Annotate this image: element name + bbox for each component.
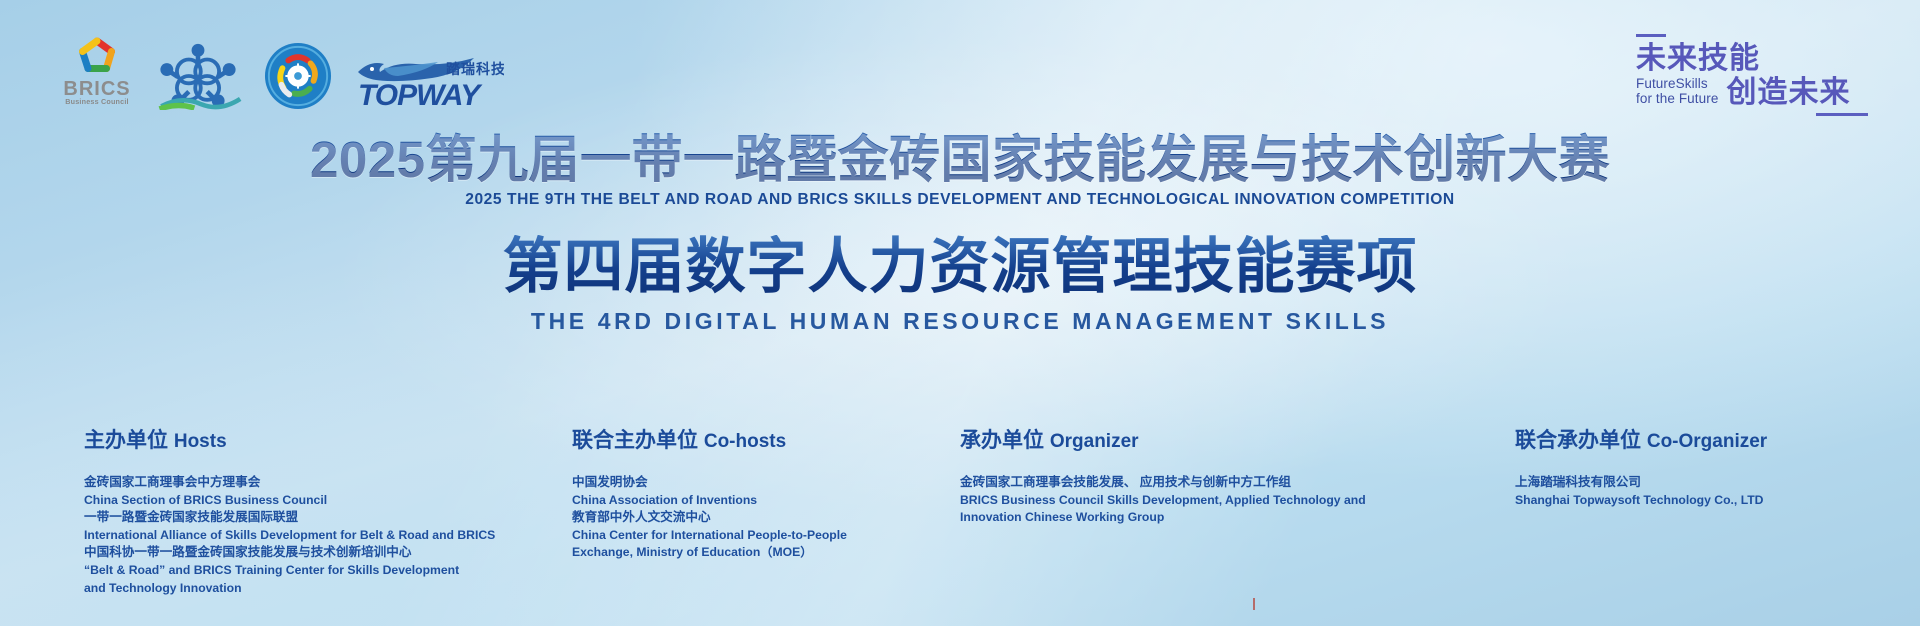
slogan-top-rule [1636,34,1666,37]
org-line: “Belt & Road” and BRICS Training Center … [84,562,554,579]
org-column-coorganizer: 联合承办单位 Co-Organizer 上海踏瑞科技有限公司 Shanghai … [1515,430,1855,509]
org-column-cohosts: 联合主办单位 Co-hosts 中国发明协会 China Association… [572,430,902,562]
svg-text:踏瑞科技: 踏瑞科技 [446,61,504,77]
org-body: 中国发明协会 China Association of Inventions 教… [572,474,902,562]
brics-business-council-logo: BRICS Business Council [62,36,132,110]
organizations-row: 主办单位 Hosts 金砖国家工商理事会中方理事会 China Section … [0,430,1920,610]
org-line: 中国发明协会 [572,474,902,492]
org-heading: 主办单位 Hosts [84,430,554,451]
slogan-en-line1: FutureSkills [1636,76,1718,91]
skills-training-center-logo [264,42,332,110]
org-heading: 承办单位 Organizer [960,430,1390,451]
event-title-en: THE 4RD DIGITAL HUMAN RESOURCE MANAGEMEN… [0,308,1920,335]
org-line: Innovation Chinese Working Group [960,509,1390,526]
slogan-bottom-rule [1816,113,1868,116]
org-line: Shanghai Topwaysoft Technology Co., LTD [1515,492,1855,509]
topway-dragon-icon: TOPWAY 踏瑞科技 [354,50,504,108]
org-body: 金砖国家工商理事会中方理事会 China Section of BRICS Bu… [84,474,554,597]
org-heading-en: Co-Organizer [1647,431,1767,452]
topway-logo: TOPWAY 踏瑞科技 [354,48,504,110]
org-line: Exchange, Ministry of Education（MOE） [572,544,902,561]
org-column-hosts: 主办单位 Hosts 金砖国家工商理事会中方理事会 China Section … [84,430,554,597]
org-line: 金砖国家工商理事会技能发展、 应用技术与创新中方工作组 [960,474,1390,492]
org-line: China Center for International People-to… [572,527,902,544]
svg-text:TOPWAY: TOPWAY [358,79,483,108]
brics-logo-wordmark: BRICS [62,79,132,99]
org-column-organizer: 承办单位 Organizer 金砖国家工商理事会技能发展、 应用技术与创新中方工… [960,430,1390,527]
competition-title-cn: 2025第九届一带一路暨金砖国家技能发展与技术创新大赛 [0,132,1920,187]
org-heading-en: Co-hosts [704,431,786,452]
future-skills-slogan: 未来技能 FutureSkills for the Future 创造未来 [1636,34,1868,116]
org-line: 教育部中外人文交流中心 [572,509,902,527]
org-line: 一带一路暨金砖国家技能发展国际联盟 [84,509,554,527]
org-line: BRICS Business Council Skills Developmen… [960,492,1390,509]
org-heading-en: Hosts [174,431,227,452]
org-line: 金砖国家工商理事会中方理事会 [84,474,554,492]
org-body: 金砖国家工商理事会技能发展、 应用技术与创新中方工作组 BRICS Busine… [960,474,1390,527]
org-heading-cn: 承办单位 [960,429,1044,452]
org-line: International Alliance of Skills Develop… [84,527,554,544]
org-heading-cn: 联合主办单位 [572,429,698,452]
org-line: and Technology Innovation [84,580,554,597]
org-line: 上海踏瑞科技有限公司 [1515,474,1855,492]
slogan-en-line2: for the Future [1636,91,1718,106]
competition-title-en: 2025 THE 9TH THE BELT AND ROAD AND BRICS… [0,191,1920,209]
belt-road-brics-alliance-logo [154,42,242,110]
org-heading: 联合主办单位 Co-hosts [572,430,902,451]
brics-star-icon [71,36,123,82]
slogan-en: FutureSkills for the Future [1636,76,1718,109]
org-heading-en: Organizer [1050,431,1139,452]
org-line: China Association of Inventions [572,492,902,509]
event-title-cn: 第四届数字人力资源管理技能赛项 [0,235,1920,299]
org-heading-cn: 联合承办单位 [1515,429,1641,452]
center-alignment-mark [1253,598,1255,610]
title-block: 2025第九届一带一路暨金砖国家技能发展与技术创新大赛 2025 THE 9TH… [0,132,1920,335]
org-heading: 联合承办单位 Co-Organizer [1515,430,1855,451]
slogan-cn-line1: 未来技能 [1636,43,1868,75]
sponsor-logo-row: BRICS Business Council [62,34,504,110]
org-heading-cn: 主办单位 [84,429,168,452]
org-line: 中国科协一带一路暨金砖国家技能发展与技术创新培训中心 [84,544,554,562]
org-body: 上海踏瑞科技有限公司 Shanghai Topwaysoft Technolog… [1515,474,1855,509]
brics-logo-subtext: Business Council [62,98,132,105]
org-line: China Section of BRICS Business Council [84,492,554,509]
slogan-cn-line2: 创造未来 [1726,77,1850,109]
